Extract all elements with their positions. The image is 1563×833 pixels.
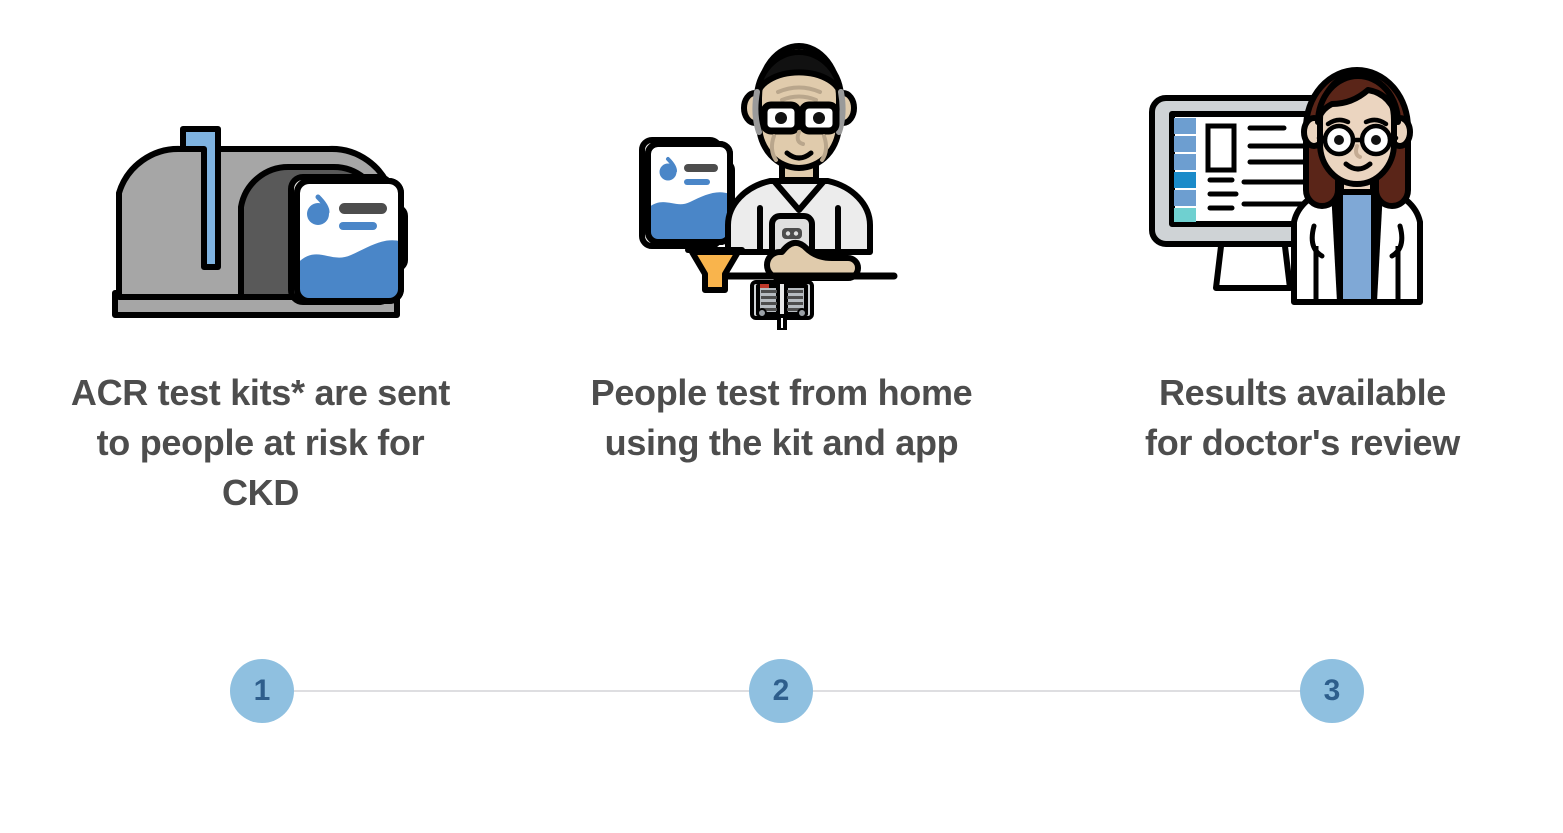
doctor-review-illustration xyxy=(1042,0,1563,330)
mailbox-icon xyxy=(111,115,411,330)
step-2-caption: People test from home using the kit and … xyxy=(582,368,982,468)
step-1: ACR test kits* are sent to people at ris… xyxy=(0,0,521,640)
person-testing-icon xyxy=(632,20,932,330)
step-1-caption: ACR test kits* are sent to people at ris… xyxy=(71,368,451,518)
timeline-node-2[interactable]: 2 xyxy=(749,659,813,723)
mailbox-illustration xyxy=(0,0,521,330)
timeline-node-1[interactable]: 1 xyxy=(230,659,294,723)
step-timeline: 1 2 3 xyxy=(0,656,1563,728)
step-2: People test from home using the kit and … xyxy=(521,0,1042,640)
timeline-node-3[interactable]: 3 xyxy=(1300,659,1364,723)
home-testing-illustration xyxy=(521,0,1042,330)
doctor-monitor-icon xyxy=(1148,40,1458,330)
process-infographic: ACR test kits* are sent to people at ris… xyxy=(0,0,1563,833)
steps-row: ACR test kits* are sent to people at ris… xyxy=(0,0,1563,640)
step-3-caption: Results available for doctor's review xyxy=(1133,368,1473,468)
step-3: Results available for doctor's review xyxy=(1042,0,1563,640)
